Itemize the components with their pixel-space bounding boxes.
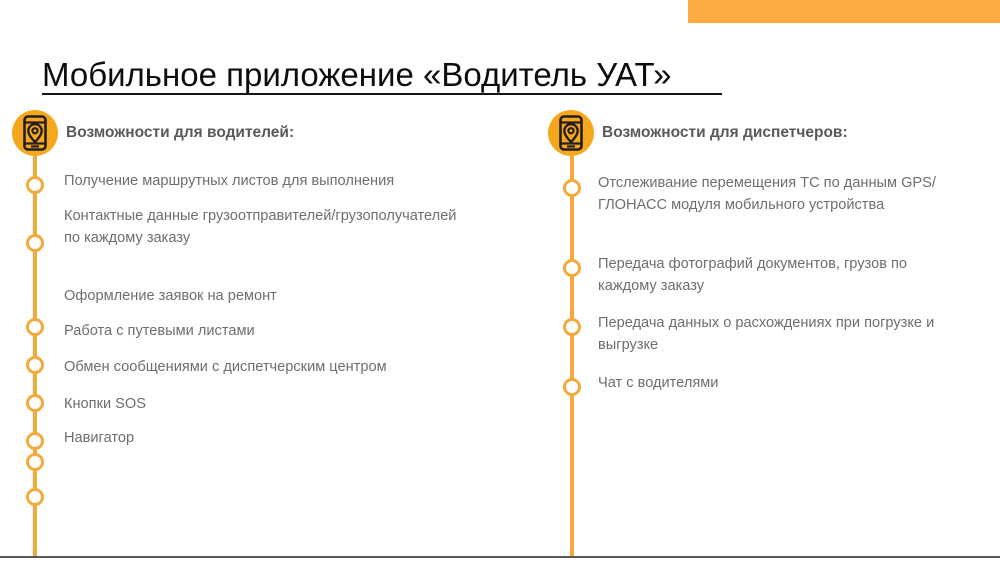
list-item: Отслеживание перемещения ТС по данным GP… xyxy=(598,172,958,216)
list-item: Контактные данные грузоотправителей/груз… xyxy=(64,205,464,249)
timeline-node xyxy=(563,378,581,396)
list-item: Оформление заявок на ремонт xyxy=(64,285,494,307)
list-item: Навигатор xyxy=(64,427,494,449)
list-item: Чат с водителями xyxy=(598,372,988,394)
timeline-node xyxy=(563,179,581,197)
dispatchers-column-header: Возможности для диспетчеров: xyxy=(548,110,848,156)
timeline-node xyxy=(563,259,581,277)
timeline-node xyxy=(26,432,44,450)
timeline-node xyxy=(26,176,44,194)
timeline-node xyxy=(26,394,44,412)
timeline-node xyxy=(26,356,44,374)
bottom-rule xyxy=(0,556,1000,558)
slide-canvas: Мобильное приложение «Водитель УАТ» Возм… xyxy=(0,0,1000,562)
list-item: Работа с путевыми листами xyxy=(64,320,494,342)
list-item: Передача данных о расхождениях при погру… xyxy=(598,312,968,356)
drivers-column: Возможности для водителей: Получение мар… xyxy=(0,0,520,562)
timeline-node xyxy=(26,318,44,336)
mobile-location-pin-icon xyxy=(548,110,594,156)
list-item: Кнопки SOS xyxy=(64,393,494,415)
list-item: Передача фотографий документов, грузов п… xyxy=(598,253,958,297)
dispatchers-column-heading: Возможности для диспетчеров: xyxy=(602,124,848,142)
timeline-node xyxy=(563,318,581,336)
drivers-column-header: Возможности для водителей: xyxy=(12,110,294,156)
drivers-column-heading: Возможности для водителей: xyxy=(66,124,294,142)
timeline-node xyxy=(26,453,44,471)
list-item: Получение маршрутных листов для выполнен… xyxy=(64,170,494,192)
timeline-node xyxy=(26,234,44,252)
dispatchers-column: Возможности для диспетчеров: Отслеживани… xyxy=(530,0,1000,562)
list-item: Обмен сообщениями с диспетчерским центро… xyxy=(64,356,494,378)
timeline-node xyxy=(26,488,44,506)
timeline-spine xyxy=(570,152,574,557)
mobile-location-pin-icon xyxy=(12,110,58,156)
